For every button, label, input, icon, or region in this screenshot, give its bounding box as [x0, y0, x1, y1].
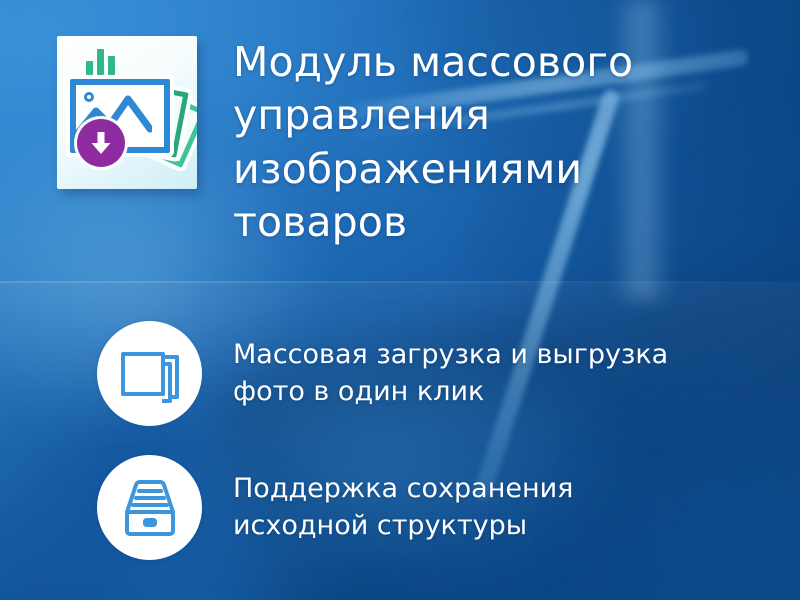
- feature-text-bulk-upload: Массовая загрузка и выгрузка фото в один…: [233, 337, 668, 410]
- file-drawer-icon: [97, 455, 202, 560]
- stacked-sheets-icon: [97, 321, 202, 426]
- feature-item-structure-preserve: Поддержка сохранения исходной структуры: [97, 455, 573, 560]
- feature-text-structure-preserve: Поддержка сохранения исходной структуры: [233, 471, 573, 544]
- hero-section: Модуль массового управления изображениям…: [0, 0, 800, 281]
- app-icon-panel: [57, 36, 197, 189]
- feature-item-bulk-upload: Массовая загрузка и выгрузка фото в один…: [97, 321, 668, 426]
- bar-chart-icon: [86, 49, 120, 75]
- page-title: Модуль массового управления изображениям…: [233, 36, 733, 249]
- promo-banner: Модуль массового управления изображениям…: [0, 0, 800, 600]
- download-arrow-icon: [77, 119, 125, 167]
- app-icon: [57, 36, 197, 189]
- features-section: Массовая загрузка и выгрузка фото в один…: [0, 283, 800, 600]
